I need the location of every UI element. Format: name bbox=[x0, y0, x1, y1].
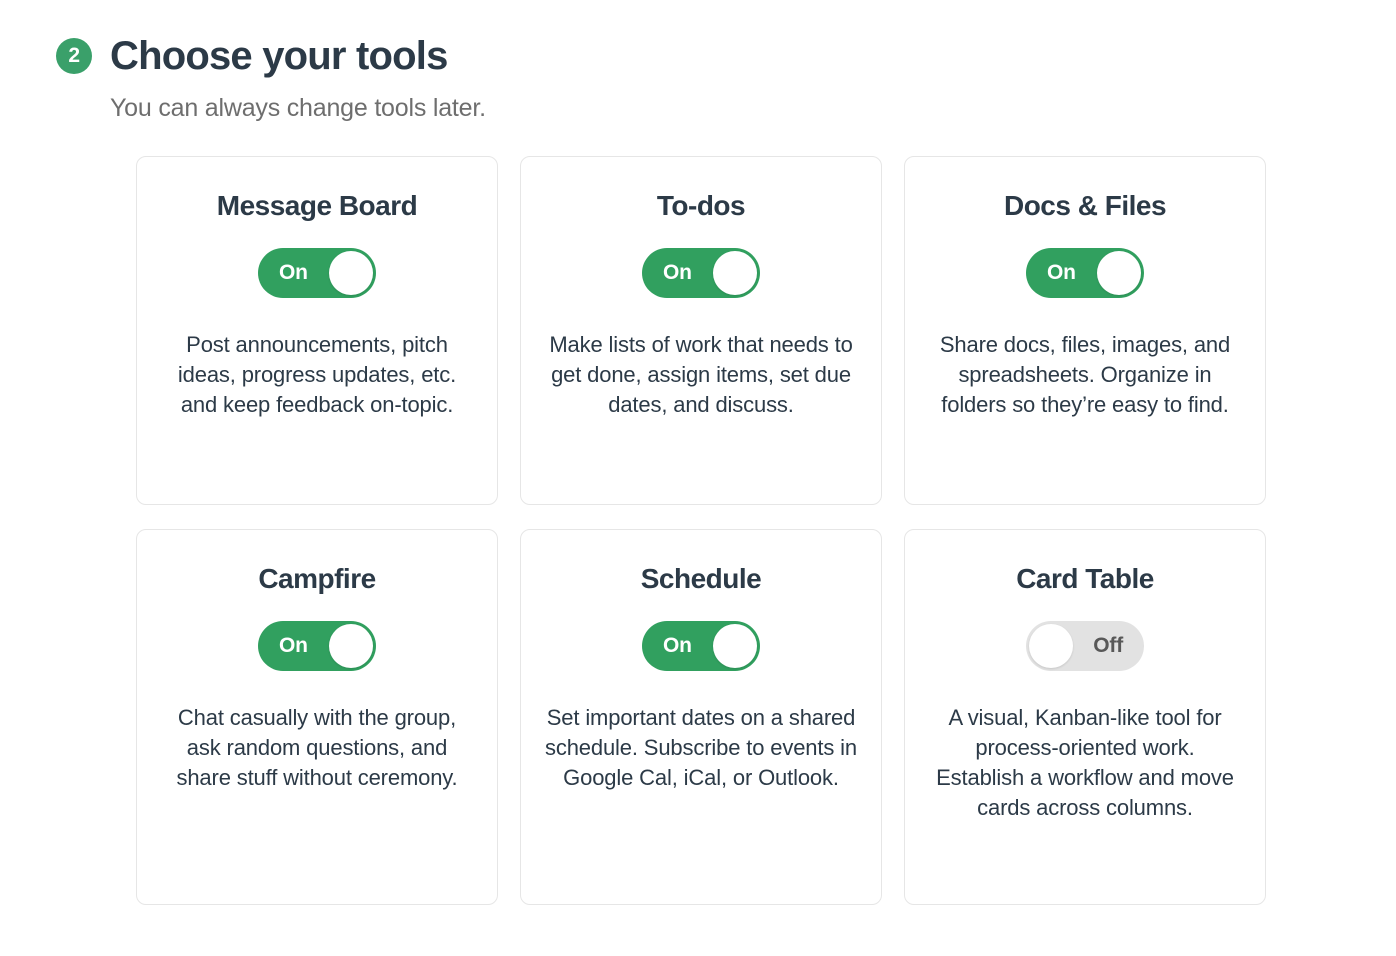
tool-description: Chat casually with the group, ask random… bbox=[161, 703, 473, 793]
tool-card-campfire[interactable]: Campfire On Chat casually with the group… bbox=[136, 529, 498, 905]
tool-toggle-schedule[interactable]: On bbox=[642, 621, 760, 671]
step-number-badge: 2 bbox=[56, 38, 92, 74]
tool-title: Schedule bbox=[641, 564, 761, 595]
tool-toggle-campfire[interactable]: On bbox=[258, 621, 376, 671]
tools-grid: Message Board On Post announcements, pit… bbox=[136, 156, 1270, 905]
page-header: 2 Choose your tools You can always chang… bbox=[56, 28, 1296, 125]
tool-toggle-card-table[interactable]: Off bbox=[1026, 621, 1144, 671]
tool-toggle-to-dos[interactable]: On bbox=[642, 248, 760, 298]
toggle-knob-icon bbox=[1029, 624, 1073, 668]
tool-card-to-dos[interactable]: To-dos On Make lists of work that needs … bbox=[520, 156, 882, 505]
toggle-label: On bbox=[1047, 262, 1076, 283]
toggle-label: On bbox=[279, 635, 308, 656]
tool-description: Post announcements, pitch ideas, progres… bbox=[161, 330, 473, 420]
tool-title: Docs & Files bbox=[1004, 191, 1166, 222]
tool-toggle-message-board[interactable]: On bbox=[258, 248, 376, 298]
tool-card-message-board[interactable]: Message Board On Post announcements, pit… bbox=[136, 156, 498, 505]
tool-description: Share docs, files, images, and spreadshe… bbox=[929, 330, 1241, 420]
toggle-knob-icon bbox=[329, 251, 373, 295]
tool-title: To-dos bbox=[657, 191, 745, 222]
tool-card-card-table[interactable]: Card Table Off A visual, Kanban-like too… bbox=[904, 529, 1266, 905]
page-subtitle: You can always change tools later. bbox=[110, 92, 1296, 125]
page-header-row: 2 Choose your tools bbox=[56, 28, 1296, 84]
page-title: Choose your tools bbox=[110, 34, 448, 78]
toggle-label: On bbox=[663, 635, 692, 656]
choose-tools-page: 2 Choose your tools You can always chang… bbox=[0, 0, 1396, 956]
tool-title: Card Table bbox=[1016, 564, 1154, 595]
toggle-knob-icon bbox=[329, 624, 373, 668]
tool-title: Message Board bbox=[217, 191, 417, 222]
tool-card-schedule[interactable]: Schedule On Set important dates on a sha… bbox=[520, 529, 882, 905]
toggle-label: On bbox=[279, 262, 308, 283]
tool-description: A visual, Kanban-like tool for process-o… bbox=[929, 703, 1241, 824]
toggle-knob-icon bbox=[1097, 251, 1141, 295]
tool-description: Set important dates on a shared schedule… bbox=[545, 703, 857, 793]
toggle-knob-icon bbox=[713, 624, 757, 668]
toggle-label: Off bbox=[1093, 635, 1123, 656]
tool-description: Make lists of work that needs to get don… bbox=[545, 330, 857, 420]
tool-toggle-docs-and-files[interactable]: On bbox=[1026, 248, 1144, 298]
toggle-knob-icon bbox=[713, 251, 757, 295]
tool-title: Campfire bbox=[258, 564, 375, 595]
tool-card-docs-and-files[interactable]: Docs & Files On Share docs, files, image… bbox=[904, 156, 1266, 505]
toggle-label: On bbox=[663, 262, 692, 283]
